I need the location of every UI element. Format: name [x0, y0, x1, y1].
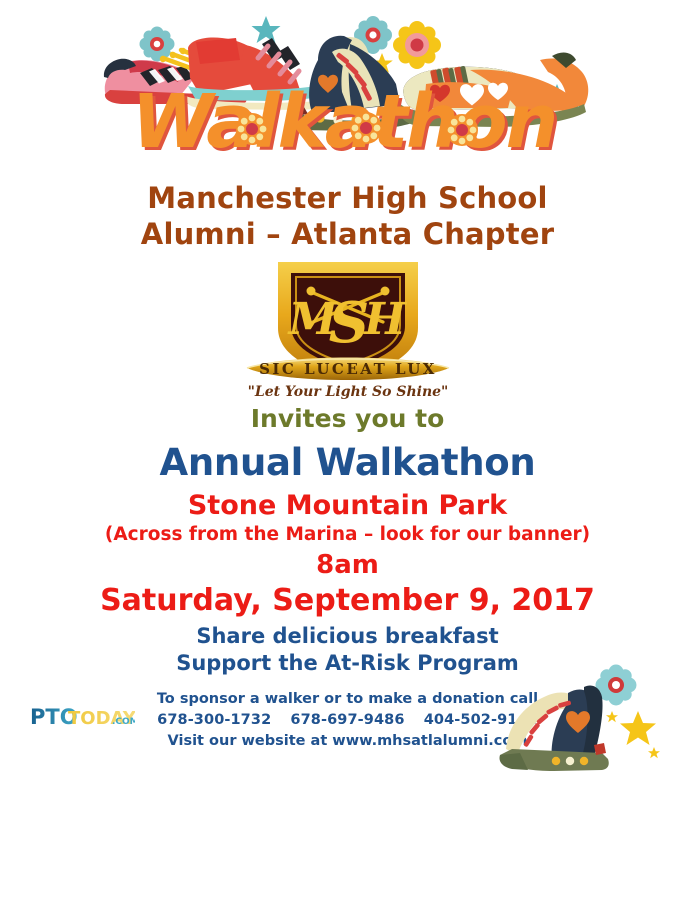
flyer-page: Walkathon Walkathon — [0, 0, 695, 899]
phone-2[interactable]: 678-697-9486 — [290, 712, 404, 728]
phone-1[interactable]: 678-300-1732 — [157, 712, 271, 728]
crest-graphic: M H S SIC LUCEAT LUX "Let Your Light So … — [233, 256, 463, 402]
crest-motto: "Let Your Light So Shine" — [247, 384, 448, 400]
org-title-line-2: Alumni – Atlanta Chapter — [0, 216, 695, 252]
venue-note: (Across from the Marina – look for our b… — [0, 523, 695, 547]
svg-text:S: S — [328, 290, 368, 356]
walkathon-logo-banner: Walkathon Walkathon — [0, 0, 695, 172]
flower-icon — [140, 27, 175, 62]
organization-title: Manchester High School Alumni – Atlanta … — [0, 180, 695, 252]
invites-text: Invites you to — [0, 404, 695, 434]
venue-name: Stone Mountain Park — [0, 489, 695, 522]
star-icon — [252, 16, 281, 43]
footer: PTO TODAY .COM To sponsor a walker or to… — [0, 689, 695, 809]
star-icon — [648, 747, 660, 758]
school-crest: M H S SIC LUCEAT LUX "Let Your Light So … — [0, 256, 695, 402]
footer-sneaker-decoration — [498, 657, 688, 777]
event-time: 8am — [0, 549, 695, 581]
walkathon-wordmark: Walkathon Walkathon — [132, 79, 560, 168]
star-icon — [606, 711, 618, 722]
sneaker-navy-icon — [500, 685, 609, 771]
footer-sneaker-graphic — [498, 657, 688, 777]
org-title-line-1: Manchester High School — [0, 180, 695, 216]
svg-text:Walkathon: Walkathon — [132, 79, 557, 165]
flower-icon — [393, 21, 441, 69]
event-date: Saturday, September 9, 2017 — [0, 582, 695, 620]
walkathon-logo-graphic: Walkathon Walkathon — [0, 0, 695, 172]
star-icon — [620, 711, 656, 745]
benefit-line-1: Share delicious breakfast — [0, 623, 695, 650]
crest-banner-text: SIC LUCEAT LUX — [259, 360, 437, 378]
event-title: Annual Walkathon — [0, 440, 695, 486]
